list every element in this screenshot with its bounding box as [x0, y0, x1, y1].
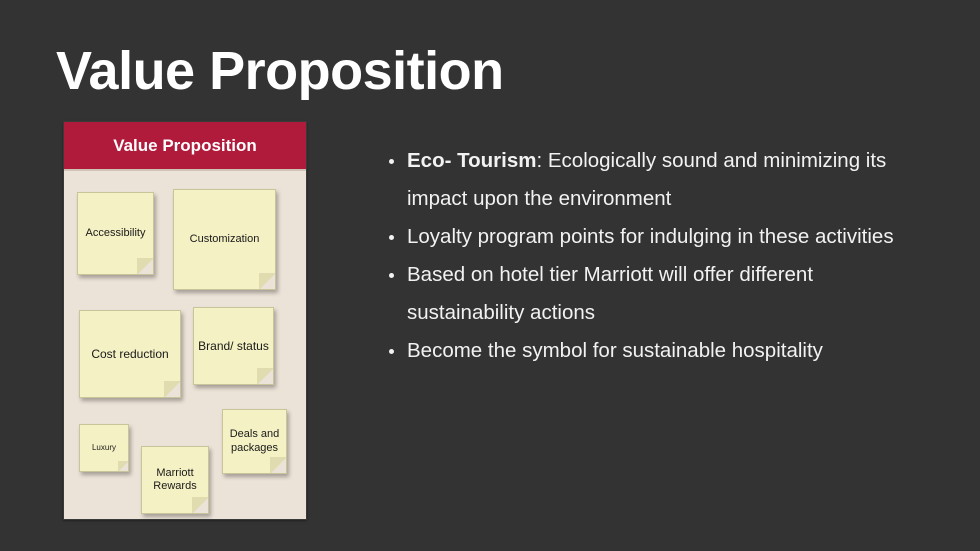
sticky-note-label: Luxury: [92, 443, 116, 453]
sticky-note-label: Accessibility: [86, 227, 146, 240]
diagram-body: Accessibility Customization Cost reducti…: [64, 169, 306, 519]
sticky-note-customization: Customization: [173, 189, 276, 290]
list-item: Eco- Tourism: Ecologically sound and min…: [383, 142, 913, 218]
value-proposition-diagram: Value Proposition Accessibility Customiz…: [63, 121, 307, 520]
sticky-note-label: Deals and packages: [227, 428, 282, 455]
sticky-note-luxury: Luxury: [79, 424, 129, 472]
list-item: Loyalty program points for indulging in …: [383, 218, 913, 256]
bullet-text: Based on hotel tier Marriott will offer …: [407, 263, 813, 324]
bullet-separator: :: [536, 149, 547, 172]
list-item: Based on hotel tier Marriott will offer …: [383, 256, 913, 332]
sticky-note-marriott-rewards: Marriott Rewards: [141, 446, 209, 514]
slide-canvas: Value Proposition Value Proposition Acce…: [0, 0, 980, 551]
sticky-note-label: Customization: [190, 233, 260, 246]
page-title: Value Proposition: [56, 43, 504, 100]
sticky-note-label: Marriott Rewards: [146, 467, 204, 494]
sticky-note-cost-reduction: Cost reduction: [79, 310, 181, 398]
bullet-text: Loyalty program points for indulging in …: [407, 225, 894, 248]
sticky-note-label: Brand/ status: [198, 339, 269, 354]
diagram-header: Value Proposition: [64, 122, 306, 169]
sticky-note-accessibility: Accessibility: [77, 192, 154, 275]
bullet-bold-lead: Eco- Tourism: [407, 149, 536, 172]
sticky-note-brand-status: Brand/ status: [193, 307, 274, 385]
bullet-text: Become the symbol for sustainable hospit…: [407, 339, 823, 362]
list-item: Become the symbol for sustainable hospit…: [383, 332, 913, 370]
diagram-header-label: Value Proposition: [113, 136, 257, 156]
bullet-list: Eco- Tourism: Ecologically sound and min…: [383, 142, 913, 370]
sticky-note-deals-and-packages: Deals and packages: [222, 409, 287, 474]
sticky-note-label: Cost reduction: [91, 347, 168, 362]
